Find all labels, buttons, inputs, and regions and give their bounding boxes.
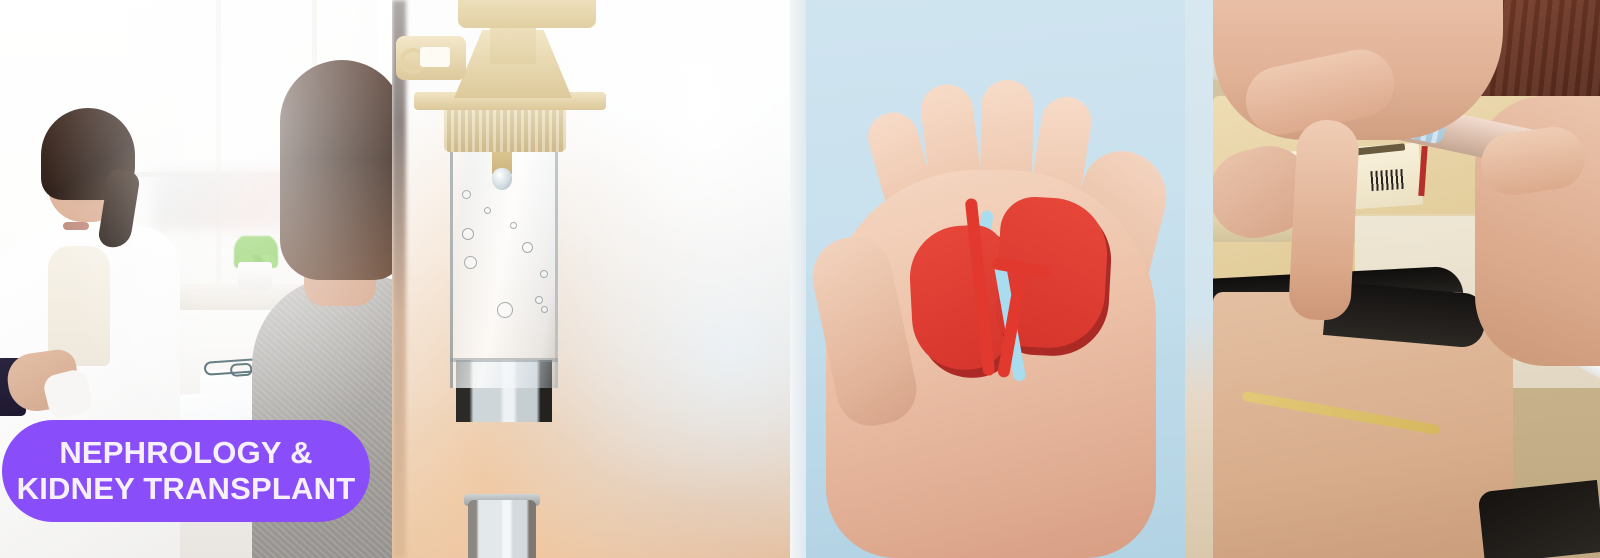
photo-left-edge — [790, 0, 806, 558]
photo-left-edge — [1185, 0, 1213, 558]
panel-nephrology-kidney-transplant[interactable]: NEPHROLOGY & KIDNEY TRANSPLANT — [0, 0, 392, 558]
air-bubble — [535, 296, 543, 304]
air-bubble — [464, 256, 477, 269]
air-bubble — [540, 270, 548, 278]
iv-pole-fitting — [458, 0, 596, 28]
air-bubble — [541, 306, 548, 313]
fluid-droplet — [492, 168, 512, 190]
barcode — [1370, 169, 1405, 191]
panel-hemodialysis[interactable]: HEMODIALYSIS — [392, 0, 790, 558]
air-bubble — [462, 190, 471, 199]
line-clamp — [396, 36, 466, 80]
paper-kidney-left — [907, 224, 1010, 373]
panel-capd-peritoneal-dialysis[interactable]: CAPD(PERITONEAL DIALYSIS) — [790, 0, 1185, 558]
photo-iv-drip-chamber — [392, 0, 790, 558]
air-bubble — [522, 242, 533, 253]
photo-catheter-connection — [1185, 0, 1600, 558]
service-banner: NEPHROLOGY & KIDNEY TRANSPLANT — [0, 0, 1600, 558]
photo-left-edge — [392, 0, 406, 558]
dialysis-line-bottom — [468, 500, 536, 558]
chamber-cap-threads — [444, 104, 566, 152]
photo-hands-holding-kidneys — [790, 0, 1185, 558]
air-bubble — [484, 207, 491, 214]
fluid-level-line — [450, 358, 558, 362]
panel-kidney-transplant[interactable]: KIDNEY TRANSPLANT — [1185, 0, 1600, 558]
air-bubble — [510, 222, 517, 229]
air-bubble — [497, 302, 513, 318]
panel-label-nephrology-kidney-transplant[interactable]: NEPHROLOGY & KIDNEY TRANSPLANT — [2, 420, 370, 522]
left-index-finger — [1288, 119, 1360, 322]
black-tray-corner — [1478, 480, 1600, 558]
air-bubble — [462, 228, 474, 240]
